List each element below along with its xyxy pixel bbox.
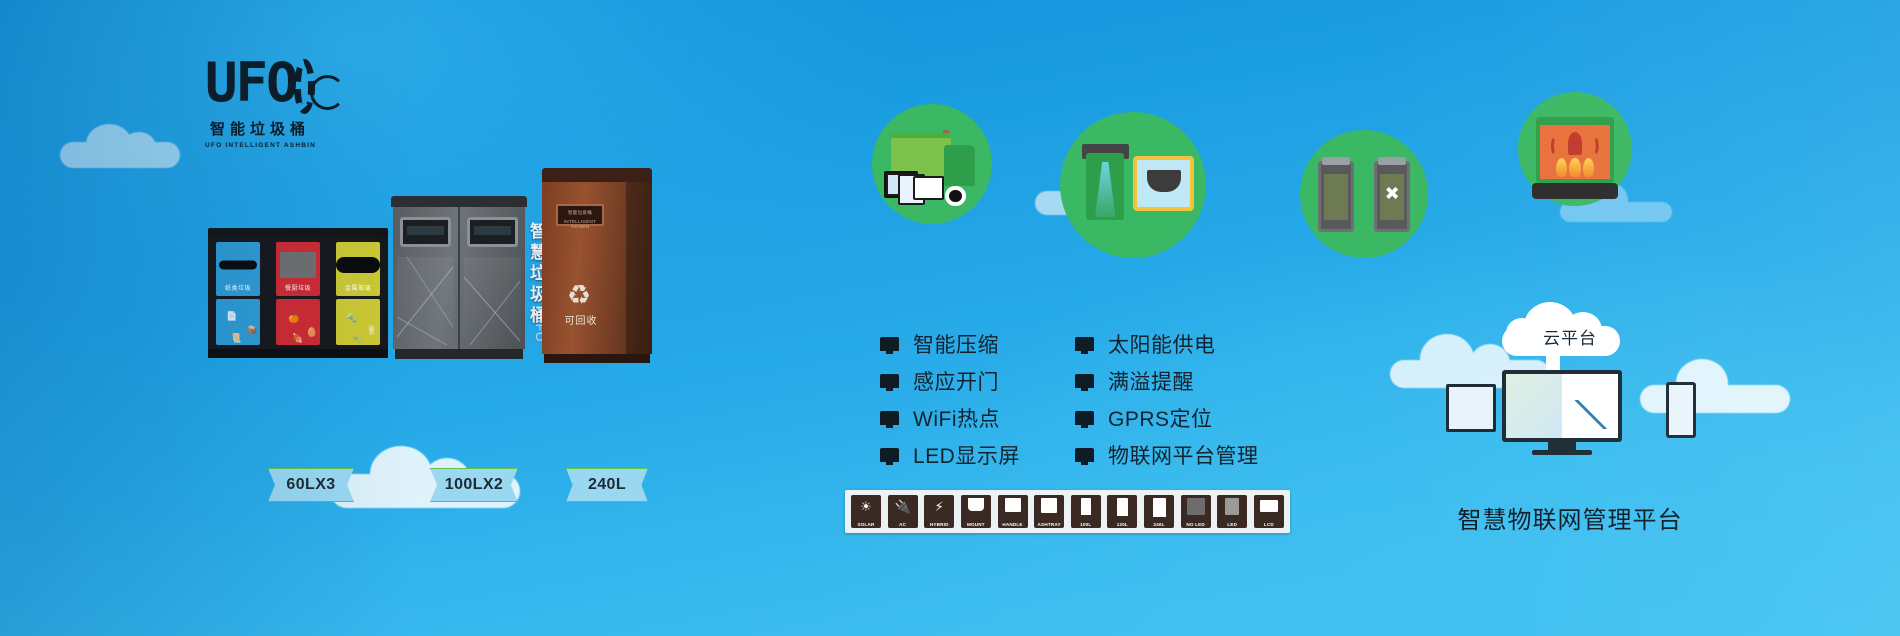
- spec-icon-label: 120L: [1107, 522, 1137, 527]
- spec-icon-label: 100L: [1071, 522, 1101, 527]
- product-double-smart-bin: 智慧垃圾桶 UFO: [393, 196, 525, 361]
- spec-icon-ac: 🔌 AC: [888, 495, 918, 528]
- monitor-icon: [880, 448, 899, 462]
- spec-icon-strip: ☀ SOLAR 🔌 AC ⚡ HYBRID MOUNT HANDLE ASHTR…: [845, 490, 1290, 533]
- spec-icon-label: SOLAR: [851, 522, 881, 527]
- spec-icon-led: LED: [1217, 495, 1247, 528]
- bin-body: 纸类垃圾 📄 📦 📜 餐厨垃圾 🍊 🥚 🍖: [208, 237, 388, 349]
- spec-icon-ashtray: ASHTRAY: [1034, 495, 1064, 528]
- compartment-label: 纸类垃圾: [216, 283, 260, 292]
- capacity-ribbon-240l: 240L: [566, 468, 648, 502]
- feature-label: WiFi热点: [913, 403, 1000, 433]
- feature-label: 太阳能供电: [1108, 329, 1216, 359]
- fire-alarm-circle: [1518, 92, 1632, 206]
- bin-body: [393, 207, 525, 349]
- logo-chinese-name: 智能垃圾桶: [205, 118, 315, 139]
- bin-hatch: [397, 257, 454, 345]
- recycle-icon: ♻: [564, 280, 594, 310]
- recycle-label: 可回收: [552, 312, 610, 327]
- bin-base: [544, 354, 650, 363]
- bin-hatch: [464, 257, 521, 345]
- compartment-graphic: 🍊 🥚 🍖: [276, 299, 320, 345]
- feature-item: WiFi热点: [880, 399, 1020, 436]
- collection-truck-circle: [872, 104, 992, 224]
- hybrid-icon: ⚡: [924, 497, 954, 516]
- feature-item: 智能压缩: [880, 325, 1020, 362]
- bin-lid: [391, 196, 527, 207]
- bin-lid: [542, 168, 652, 182]
- sensor-bin-icon: [1060, 112, 1206, 258]
- logo-mark: UFO: [205, 58, 315, 116]
- feature-label: 物联网平台管理: [1108, 440, 1259, 470]
- bin-display-screen: 智能垃圾桶 INTELLIGENT ASHBIN: [556, 204, 604, 226]
- feature-list-right: 太阳能供电 满溢提醒 GPRS定位 物联网平台管理: [1075, 325, 1259, 473]
- waste-slot-icon: [219, 260, 257, 269]
- compartment-label: 金属玻璃: [336, 283, 380, 292]
- screen-icon: [1133, 156, 1194, 211]
- sun-icon: ☀: [851, 497, 881, 516]
- feature-label: 感应开门: [913, 366, 999, 396]
- fire-alarm-icon: [1518, 92, 1632, 206]
- monitor-icon: [1502, 370, 1622, 442]
- capacity-ribbon-100lx2: 100LX2: [430, 468, 518, 502]
- feature-label: LED显示屏: [913, 440, 1020, 470]
- compartment-label: 餐厨垃圾: [276, 283, 320, 292]
- monitor-icon: [880, 337, 899, 351]
- spec-icon-240l: 240L: [1144, 495, 1174, 528]
- bin-base: [395, 349, 523, 359]
- spec-icon-label: HANDLE: [998, 522, 1028, 527]
- product-banner: UFO 智能垃圾桶 UFO INTELLIGENT ASHBIN 纸类垃圾 📄 …: [0, 0, 1900, 636]
- waste-slot-icon: [336, 257, 380, 273]
- spec-icon-label: 240L: [1144, 522, 1174, 527]
- iot-platform-illustration: 云平台: [1440, 300, 1700, 460]
- monitor-icon: [1075, 448, 1094, 462]
- bin-side-panel: [626, 182, 652, 354]
- spec-icon-label: LED: [1217, 522, 1247, 527]
- ashtray-icon: [1041, 498, 1057, 513]
- spec-icon-label: HYBRID: [924, 522, 954, 527]
- feature-label: 满溢提醒: [1108, 366, 1194, 396]
- feature-item: 满溢提醒: [1075, 362, 1259, 399]
- monitor-icon: [880, 411, 899, 425]
- plug-icon: 🔌: [888, 497, 918, 516]
- monitor-icon: [1075, 411, 1094, 425]
- spec-icon-label: ASHTRAY: [1034, 522, 1064, 527]
- spec-icon-lcd: LCD: [1254, 495, 1284, 528]
- garbage-truck-icon: [872, 104, 992, 224]
- tablet-icon: [1446, 384, 1496, 432]
- compartment-panel: 餐厨垃圾: [276, 242, 320, 296]
- bin-compartment: [393, 207, 460, 349]
- monitor-icon: [880, 374, 899, 388]
- bin-base: [208, 349, 388, 358]
- platform-caption: 智慧物联网管理平台: [1420, 500, 1720, 535]
- bin-compartment: 金属玻璃 🔩 🥛 🔧: [328, 237, 388, 349]
- display-window: [400, 217, 451, 247]
- compartment-graphic: 📄 📦 📜: [216, 299, 260, 345]
- hatch-lines-icon: [397, 257, 453, 345]
- feature-item: 太阳能供电: [1075, 325, 1259, 362]
- feature-item: LED显示屏: [880, 436, 1020, 473]
- logo-wordmark: UFO: [205, 58, 297, 108]
- spec-icon-solar: ☀ SOLAR: [851, 495, 881, 528]
- spec-icon-no-led: NO LED: [1181, 495, 1211, 528]
- logo-english-name: UFO INTELLIGENT ASHBIN: [205, 142, 315, 149]
- lcd-icon: [1260, 500, 1278, 512]
- led-icon: [1225, 498, 1239, 515]
- compartment-panel: 纸类垃圾: [216, 242, 260, 296]
- spec-icon-hybrid: ⚡ HYBRID: [924, 495, 954, 528]
- two-bins-icon: ✖: [1300, 130, 1428, 258]
- bin-icon: [1117, 498, 1128, 516]
- cloud-decoration: [60, 120, 200, 170]
- capacity-ribbon-60lx3: 60LX3: [268, 468, 354, 502]
- feature-label: GPRS定位: [1108, 403, 1213, 433]
- display-window: [467, 217, 518, 247]
- brand-logo: UFO 智能垃圾桶 UFO INTELLIGENT ASHBIN: [205, 58, 315, 150]
- bin-lid: [208, 228, 388, 237]
- monitor-icon: [913, 176, 944, 200]
- spec-icon-label: LCD: [1254, 522, 1284, 527]
- no-led-icon: [1187, 498, 1205, 515]
- ufo-ring-icon: [294, 59, 315, 114]
- bin-icon: [1081, 498, 1091, 515]
- hatch-lines-icon: [464, 257, 520, 345]
- feature-item: 物联网平台管理: [1075, 436, 1259, 473]
- mount-icon: [968, 498, 984, 511]
- phone-icon: [1666, 382, 1696, 438]
- monitor-icon: [1075, 337, 1094, 351]
- screen-title: 智能垃圾桶: [558, 206, 602, 215]
- feature-label: 智能压缩: [913, 329, 999, 359]
- compartment-panel: 金属玻璃: [336, 242, 380, 296]
- waste-slot-icon: [278, 250, 318, 280]
- bin-compartment: [460, 207, 525, 349]
- sensor-bin-circle: [1060, 112, 1206, 258]
- handle-icon: [1005, 498, 1021, 512]
- spec-icon-label: AC: [888, 522, 918, 527]
- spec-icon-label: MOUNT: [961, 522, 991, 527]
- product-single-recycle-bin: 智能垃圾桶 INTELLIGENT ASHBIN ♻ 可回收: [542, 168, 652, 364]
- monitor-stand: [1548, 442, 1576, 450]
- spec-icon-mount: MOUNT: [961, 495, 991, 528]
- full-detection-circle: ✖: [1300, 130, 1428, 258]
- feature-item: GPRS定位: [1075, 399, 1259, 436]
- feature-item: 感应开门: [880, 362, 1020, 399]
- screen-subtitle: INTELLIGENT ASHBIN: [558, 215, 602, 229]
- feature-list-left: 智能压缩 感应开门 WiFi热点 LED显示屏: [880, 325, 1020, 473]
- spec-icon-120l: 120L: [1107, 495, 1137, 528]
- spec-icon-100l: 100L: [1071, 495, 1101, 528]
- product-triple-sorting-bin: 纸类垃圾 📄 📦 📜 餐厨垃圾 🍊 🥚 🍖: [208, 228, 388, 358]
- spec-icon-handle: HANDLE: [998, 495, 1028, 528]
- bin-compartment: 纸类垃圾 📄 📦 📜: [208, 237, 268, 349]
- bin-icon: [1153, 498, 1166, 517]
- bin-body: 智能垃圾桶 INTELLIGENT ASHBIN ♻ 可回收: [542, 182, 652, 354]
- bin-compartment: 餐厨垃圾 🍊 🥚 🍖: [268, 237, 328, 349]
- spec-icon-label: NO LED: [1181, 522, 1211, 527]
- monitor-base: [1532, 450, 1592, 455]
- monitor-icon: [1075, 374, 1094, 388]
- cloud-platform-label: 云平台: [1440, 324, 1700, 349]
- compartment-graphic: 🔩 🥛 🔧: [336, 299, 380, 345]
